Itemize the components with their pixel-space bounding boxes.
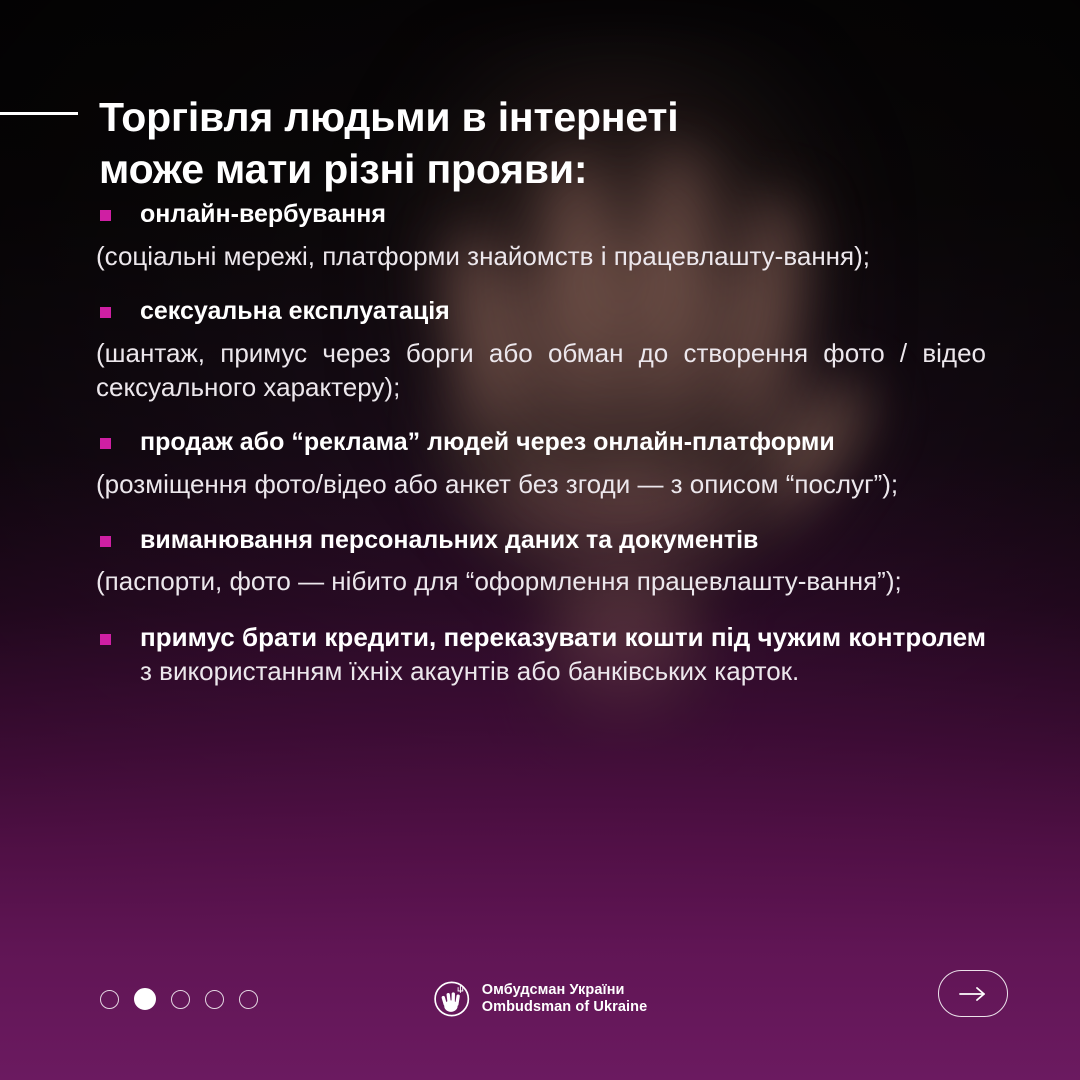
page-title: Торгівля людьми в інтернеті може мати рі… [99,92,959,195]
pagination-dot-active[interactable] [134,988,156,1010]
content-layer: Торгівля людьми в інтернеті може мати рі… [0,0,1080,1080]
bullet-term-bold: примус брати кредити, переказувати кошти… [140,622,986,652]
title-accent-rule [0,112,78,115]
bullet-note-inline: з використанням їхніх акаунтів або банкі… [140,656,799,686]
arrow-right-icon [957,986,989,1002]
bullet-term: продаж або “реклама” людей через онлайн-… [96,426,986,459]
list-item: сексуальна експлуатація (шантаж, примус … [96,295,986,404]
bullet-term: виманювання персональних даних та докуме… [96,524,986,557]
bullet-merged: примус брати кредити, переказувати кошти… [96,621,986,689]
logo-text-uk: Омбудсман України [482,982,648,999]
footer-bar: Омбудсман України Ombudsman of Ukraine [0,930,1080,1080]
slide-root: Торгівля людьми в інтернеті може мати рі… [0,0,1080,1080]
bullet-note: (розміщення фото/відео або анкет без зго… [96,468,986,502]
page-title-line-2: може мати різні прояви: [99,146,587,192]
page-title-line-1: Торгівля людьми в інтернеті [99,94,679,140]
bullet-term: сексуальна експлуатація [96,295,986,328]
bullet-note: (паспорти, фото — нібито для “оформлення… [96,565,986,599]
next-slide-button[interactable] [938,970,1008,1017]
bullet-list: онлайн-вербування (соціальні мережі, пла… [96,198,986,689]
bullet-note: (шантаж, примус через борги або обман до… [96,337,986,405]
pagination-dot[interactable] [171,990,190,1009]
bullet-term: онлайн-вербування [96,198,986,231]
hand-trident-logo-icon [433,980,471,1018]
bullet-note: (соціальні мережі, платформи знайомств і… [96,240,986,274]
list-item: продаж або “реклама” людей через онлайн-… [96,426,986,501]
list-item: виманювання персональних даних та докуме… [96,524,986,599]
pagination-dot[interactable] [239,990,258,1009]
logo-text-en: Ombudsman of Ukraine [482,999,648,1016]
logo-wordmark: Омбудсман України Ombudsman of Ukraine [482,982,648,1015]
ombudsman-logo: Омбудсман України Ombudsman of Ukraine [433,980,648,1018]
list-item: примус брати кредити, переказувати кошти… [96,621,986,689]
pagination-dot[interactable] [205,990,224,1009]
list-item: онлайн-вербування (соціальні мережі, пла… [96,198,986,273]
pagination-dot[interactable] [100,990,119,1009]
pagination-dots[interactable] [100,988,258,1010]
